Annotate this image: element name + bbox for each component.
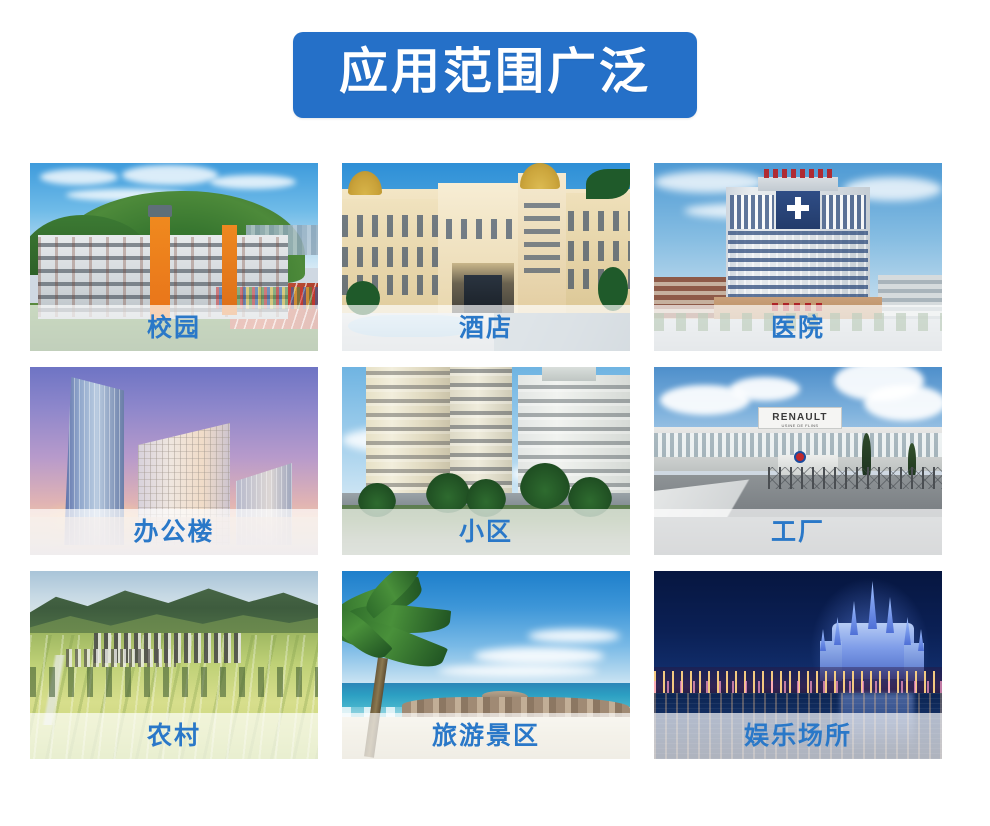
cloud-shape: [210, 175, 296, 189]
cloud-shape: [730, 377, 800, 401]
page-title: 应用范围广泛: [339, 45, 651, 100]
cloud-shape: [40, 169, 118, 185]
scenario-tile-office[interactable]: 办公楼: [30, 367, 318, 555]
scenario-tile-hotel[interactable]: 酒店: [342, 163, 630, 351]
scenario-label: 校园: [147, 316, 201, 341]
scenario-grid: 校园: [30, 163, 942, 759]
scenario-label-band: 医院: [654, 305, 942, 351]
hotel-windows: [446, 219, 518, 239]
scenario-tile-residential[interactable]: 小区: [342, 367, 630, 555]
scenario-tile-entertainment[interactable]: 娱乐场所: [654, 571, 942, 759]
scenario-label-band: 小区: [342, 509, 630, 555]
application-scope-page: 应用范围广泛: [0, 0, 990, 826]
hotel-windows: [342, 215, 442, 237]
scenario-label-band: 校园: [30, 305, 318, 351]
palm-tree: [520, 463, 570, 509]
page-header: 应用范围广泛: [0, 0, 990, 150]
hotel-windows: [568, 241, 630, 261]
scenario-label: 办公楼: [133, 520, 214, 545]
perimeter-fence: [768, 467, 942, 489]
hospital-roof-block: [758, 177, 838, 191]
medical-cross-icon: [787, 205, 809, 211]
scenario-label: 小区: [459, 520, 513, 545]
factory-brand-subtitle: USINE DE FLINS: [764, 423, 836, 428]
hospital-roof-signage: [764, 169, 832, 178]
scenario-label-band: 工厂: [654, 509, 942, 555]
hotel-windows: [342, 247, 442, 267]
tower-cap: [148, 205, 172, 217]
hospital-windows-right: [822, 195, 866, 229]
orange-stair-tower: [222, 225, 237, 315]
cloud-shape: [474, 647, 604, 665]
no-entry-sign-icon: [794, 451, 806, 463]
palm-tree: [586, 169, 630, 199]
rooftop-structure: [542, 367, 596, 381]
cloud-shape: [122, 165, 218, 185]
scenario-label-band: 娱乐场所: [654, 713, 942, 759]
hospital-windows-left: [730, 195, 774, 229]
scenario-label-band: 旅游景区: [342, 713, 630, 759]
cloud-shape: [864, 385, 942, 421]
palm-tree: [426, 473, 470, 513]
cloud-shape: [438, 665, 598, 677]
scenario-tile-campus[interactable]: 校园: [30, 163, 318, 351]
scenario-label: 医院: [771, 316, 825, 341]
title-badge: 应用范围广泛: [293, 32, 697, 118]
scenario-label: 旅游景区: [432, 724, 540, 749]
scenario-tile-countryside[interactable]: 农村: [30, 571, 318, 759]
factory-brand-text: RENAULT: [764, 412, 836, 423]
tree-line: [30, 667, 318, 697]
scenario-tile-tourist[interactable]: 旅游景区: [342, 571, 630, 759]
scenario-label: 酒店: [459, 316, 513, 341]
scenario-tile-hospital[interactable]: 医院: [654, 163, 942, 351]
scenario-label-band: 办公楼: [30, 509, 318, 555]
hotel-tower-windows: [524, 203, 560, 275]
scenario-label: 工厂: [771, 520, 825, 545]
cloud-shape: [528, 629, 620, 643]
scenario-label: 娱乐场所: [744, 724, 852, 749]
scenario-label: 农村: [147, 724, 201, 749]
scenario-label-band: 农村: [30, 713, 318, 759]
hotel-windows: [568, 211, 630, 231]
scenario-label-band: 酒店: [342, 305, 630, 351]
scenario-tile-factory[interactable]: RENAULT USINE DE FLINS 工厂: [654, 367, 942, 555]
